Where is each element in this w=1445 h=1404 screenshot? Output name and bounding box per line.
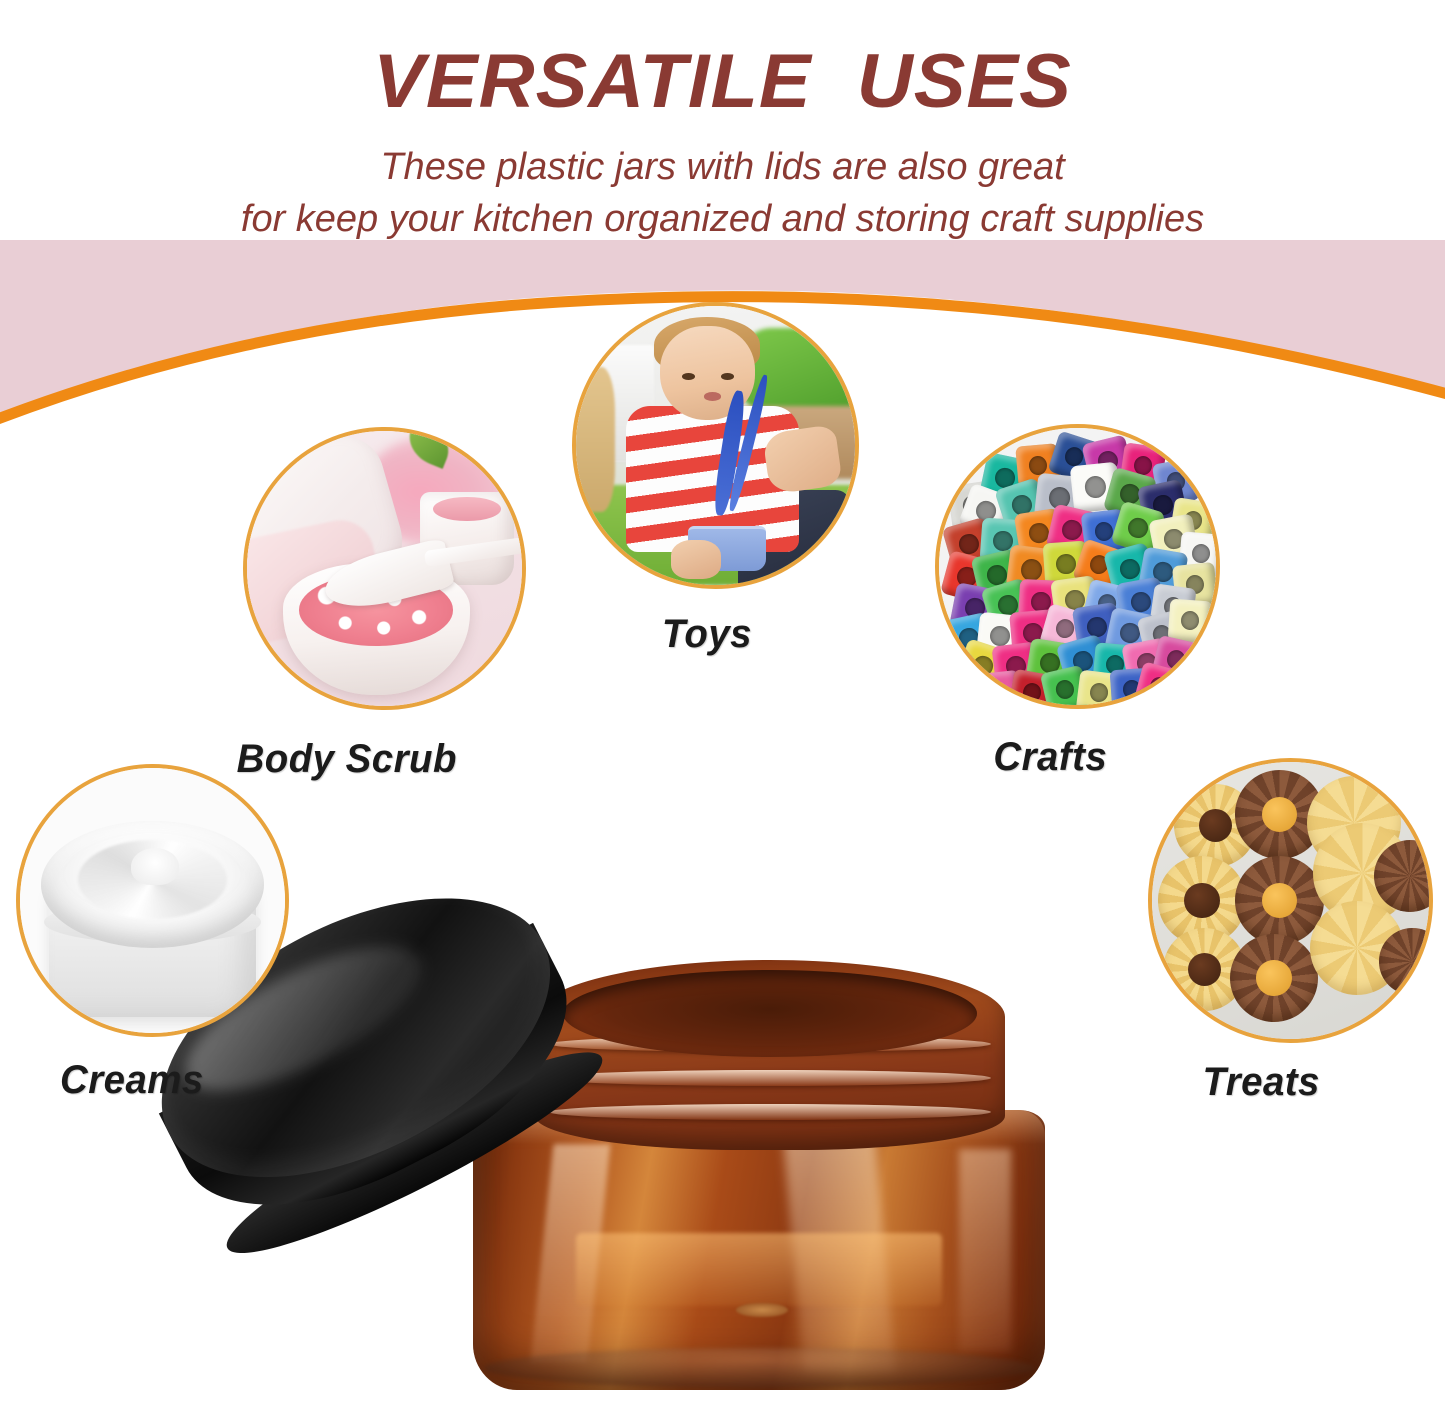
body-scrub-photo [247,431,522,706]
use-case-circle-treats[interactable] [1148,758,1433,1043]
use-case-label-toys: Toys [662,612,752,657]
infographic-canvas: VERSATILE USES These plastic jars with l… [0,0,1445,1404]
use-case-label-treats: Treats [1202,1060,1319,1105]
header: VERSATILE USES These plastic jars with l… [0,0,1445,300]
subtitle-line-2: for keep your kitchen organized and stor… [0,194,1445,244]
toys-photo [576,306,855,585]
page-title: VERSATILE USES [0,44,1445,120]
treats-cookies-photo [1152,762,1429,1039]
use-case-label-body-scrub: Body Scrub [237,737,457,782]
creams-photo [20,768,285,1033]
cookie-center [1262,797,1297,832]
bead [1168,598,1212,642]
cookie-center [1199,809,1232,842]
use-case-circle-crafts[interactable] [935,424,1220,709]
use-case-label-crafts: Crafts [993,735,1107,780]
use-case-circle-toys[interactable] [572,302,859,589]
crafts-beads-photo [939,428,1216,705]
cookie-center [1188,953,1221,986]
cookie-center [1256,960,1291,995]
cookie [1235,856,1324,945]
use-case-circle-body-scrub[interactable] [243,427,526,710]
cookie [1379,928,1433,994]
cookie-center [1262,883,1297,918]
use-case-label-creams: Creams [60,1058,204,1103]
subtitle-line-1: These plastic jars with lids are also gr… [0,142,1445,192]
cookie-center [1184,883,1219,918]
cookie [1230,934,1319,1023]
use-case-circle-creams[interactable] [16,764,289,1037]
